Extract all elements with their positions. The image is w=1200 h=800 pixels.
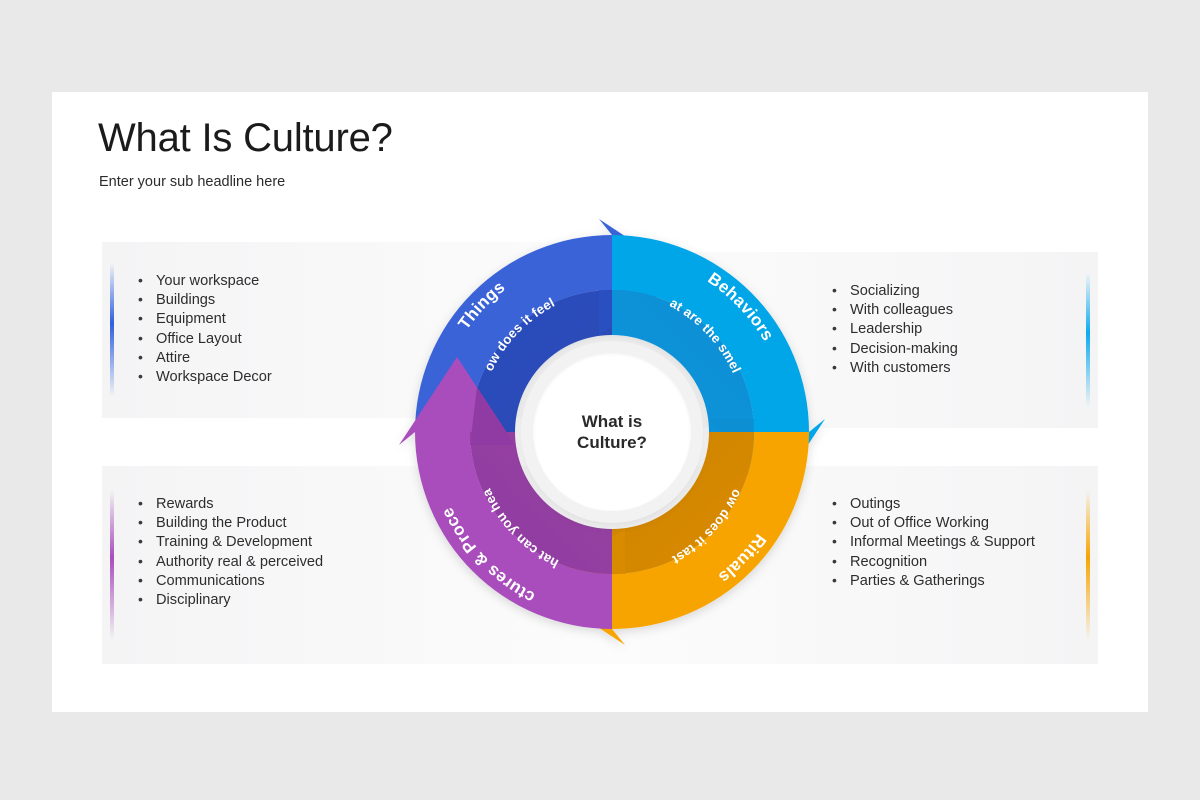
hub-line-2: Culture? bbox=[577, 432, 647, 453]
page-title: What Is Culture? bbox=[98, 116, 393, 161]
panel-things-accent bbox=[110, 263, 114, 397]
list-item: Building the Product bbox=[134, 514, 323, 533]
list-item: Attire bbox=[134, 349, 272, 368]
panel-things-list: Your workspace Buildings Equipment Offic… bbox=[134, 272, 272, 387]
list-item: With customers bbox=[828, 359, 958, 378]
diagram-hub: What is Culture? bbox=[521, 341, 703, 523]
culture-cycle-diagram: Things How does it feel? Behaviors What … bbox=[377, 197, 847, 667]
page-subtitle: Enter your sub headline here bbox=[99, 174, 285, 190]
hub-line-1: What is bbox=[582, 411, 642, 432]
list-item: Rewards bbox=[134, 495, 323, 514]
list-item: Disciplinary bbox=[134, 591, 323, 610]
diagram-hub-inner: What is Culture? bbox=[533, 353, 691, 511]
slide-card: What Is Culture? Enter your sub headline… bbox=[52, 92, 1148, 712]
panel-behaviors-accent bbox=[1086, 273, 1090, 407]
list-item: Out of Office Working bbox=[828, 514, 1040, 533]
list-item: Your workspace bbox=[134, 272, 272, 291]
list-item: Office Layout bbox=[134, 330, 272, 349]
list-item: Authority real & perceived bbox=[134, 553, 323, 572]
panel-rituals-accent bbox=[1086, 490, 1090, 640]
list-item: Decision-making bbox=[828, 340, 958, 359]
list-item: Buildings bbox=[134, 291, 272, 310]
list-item: Socializing bbox=[828, 282, 958, 301]
panel-structures-list: Rewards Building the Product Training & … bbox=[134, 495, 323, 610]
list-item: Workspace Decor bbox=[134, 368, 272, 387]
list-item: Equipment bbox=[134, 310, 272, 329]
list-item: Parties & Gatherings bbox=[828, 572, 1040, 591]
list-item: Recognition bbox=[828, 553, 1040, 572]
list-item: Outings bbox=[828, 495, 1040, 514]
list-item: With colleagues bbox=[828, 301, 958, 320]
list-item: Informal Meetings & Support bbox=[828, 533, 1040, 552]
list-item: Leadership bbox=[828, 320, 958, 339]
panel-structures-accent bbox=[110, 490, 114, 640]
panel-rituals-list: Outings Out of Office Working Informal M… bbox=[828, 495, 1040, 591]
list-item: Communications bbox=[134, 572, 323, 591]
slide-canvas: What Is Culture? Enter your sub headline… bbox=[0, 0, 1200, 800]
list-item: Training & Development bbox=[134, 533, 323, 552]
panel-behaviors-list: Socializing With colleagues Leadership D… bbox=[828, 282, 958, 378]
